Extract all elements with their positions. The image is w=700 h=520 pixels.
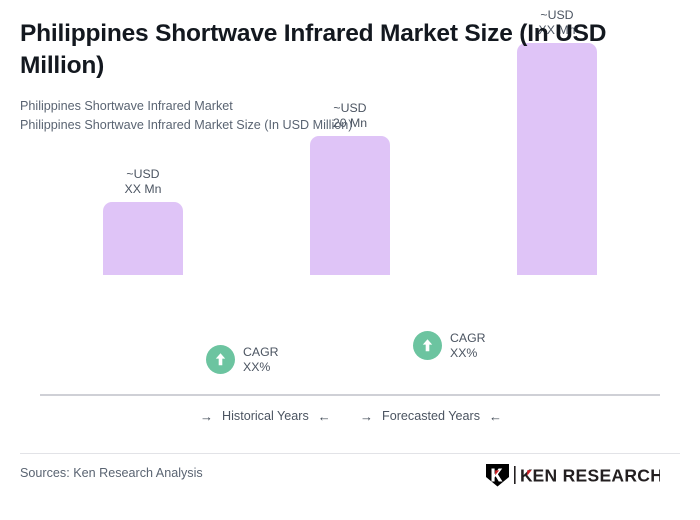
cagr-badge-base-to-forecast[interactable]: CAGRXX% xyxy=(413,331,486,360)
legend-forecasted-label: Forecasted Years xyxy=(382,409,480,423)
legend-historical-label: Historical Years xyxy=(222,409,309,423)
cagr-badge-historical-to-base[interactable]: CAGRXX% xyxy=(206,345,279,374)
svg-text:K: K xyxy=(520,465,533,485)
year-span-legend: → Historical Years ← → Forecasted Years … xyxy=(40,409,660,431)
arrow-up-icon xyxy=(413,331,442,360)
chart-subtitle: Philippines Shortwave Infrared Market Ph… xyxy=(20,97,540,134)
cagr-value-1: XX% xyxy=(243,360,270,374)
legend-historical-years: → Historical Years ← xyxy=(200,409,331,423)
arrow-right-icon: → xyxy=(200,410,213,423)
bar-base[interactable] xyxy=(310,136,390,275)
bar-value-historical: ~USD XX Mn xyxy=(77,167,209,196)
bar-historical[interactable] xyxy=(103,202,183,275)
arrow-up-icon xyxy=(206,345,235,374)
footer-divider xyxy=(20,453,680,454)
x-axis-line xyxy=(40,394,660,396)
cagr-label-2: CAGRXX% xyxy=(450,331,486,360)
cagr-value-2: XX% xyxy=(450,346,477,360)
cagr-label-1: CAGRXX% xyxy=(243,345,279,374)
ken-research-logo: K EN RESEARCH xyxy=(484,463,660,487)
arrow-right-icon: → xyxy=(360,410,373,423)
page-title: Philippines Shortwave Infrared Market Si… xyxy=(20,18,668,82)
cagr-title-1: CAGR xyxy=(243,345,279,359)
arrow-left-icon: ← xyxy=(318,410,331,423)
sources-label: Sources: Ken Research Analysis xyxy=(20,466,203,480)
arrow-left-icon: ← xyxy=(489,410,502,423)
legend-forecasted-years: → Forecasted Years ← xyxy=(360,409,502,423)
subtitle-line-1: Philippines Shortwave Infrared Market xyxy=(20,97,540,116)
subtitle-line-2: Philippines Shortwave Infrared Market Si… xyxy=(20,116,540,135)
svg-text:EN RESEARCH: EN RESEARCH xyxy=(533,465,661,485)
cagr-title-2: CAGR xyxy=(450,331,486,345)
